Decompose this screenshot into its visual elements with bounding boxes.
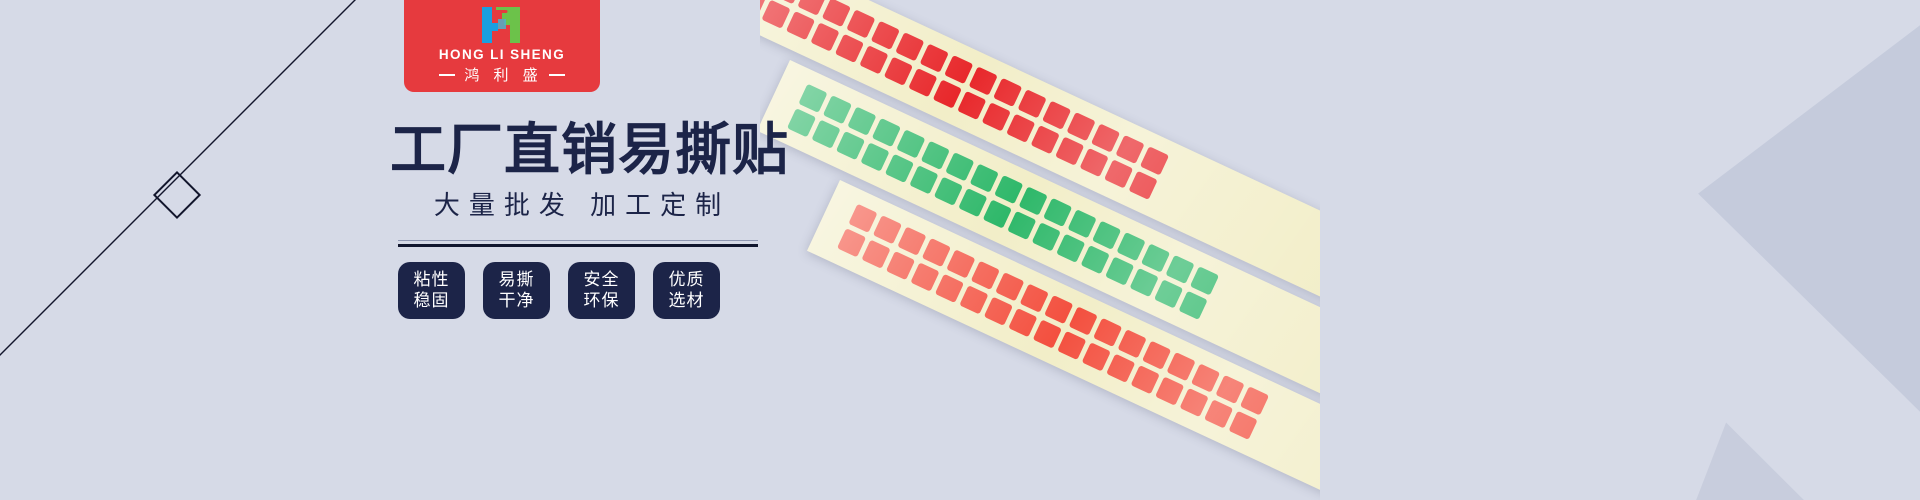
sticker-dot [761, 0, 790, 29]
logo-chinese-name: 鸿 利 盛 [461, 68, 542, 83]
sticker-dot [861, 240, 890, 269]
sticker-dot [1080, 148, 1109, 177]
sticker-dot [1128, 171, 1157, 200]
divider-line-thin [398, 240, 758, 241]
sticker-dot [1032, 222, 1061, 251]
badge-line-2: 稳固 [414, 291, 450, 312]
sticker-dot [934, 177, 963, 206]
section-divider [398, 240, 758, 247]
sticker-dot [1190, 266, 1219, 295]
sticker-dot [1106, 354, 1135, 383]
sticker-dot [860, 142, 889, 171]
sticker-dot [908, 68, 937, 97]
sticker-dot [921, 141, 950, 170]
subheadline-text: 大量批发 加工定制 [390, 192, 765, 218]
sticker-dot [822, 0, 851, 27]
sticker-dot [848, 204, 877, 233]
feature-badge[interactable]: 优质 选材 [653, 262, 720, 319]
sticker-dot [1141, 243, 1170, 272]
sticker-dot [1142, 341, 1171, 370]
sticker-dot [1178, 291, 1207, 320]
sticker-dot [798, 84, 827, 113]
sticker-dot [1204, 399, 1233, 428]
sticker-dot [885, 154, 914, 183]
badge-line-2: 环保 [584, 291, 620, 312]
sticker-dot [872, 118, 901, 147]
sticker-dot [846, 9, 875, 38]
sticker-dot [971, 261, 1000, 290]
sticker-dot [1069, 306, 1098, 335]
sticker-dot [1115, 135, 1144, 164]
logo-rule-right [549, 74, 565, 76]
badge-line-1: 易撕 [499, 270, 535, 291]
feature-badge[interactable]: 安全 环保 [568, 262, 635, 319]
sticker-dot [1057, 331, 1086, 360]
sticker-dot [1018, 89, 1047, 118]
sticker-dot [884, 57, 913, 86]
sticker-dot [787, 108, 816, 137]
sticker-dot [1020, 284, 1049, 313]
sticker-dot [1165, 255, 1194, 284]
sticker-dot [1066, 112, 1095, 141]
badge-line-2: 干净 [499, 291, 535, 312]
sticker-dot [1082, 342, 1111, 371]
sticker-dot [1155, 376, 1184, 405]
sticker-dot [1091, 123, 1120, 152]
sticker-dot [1118, 329, 1147, 358]
triangle-decoration-bottom-right [1579, 391, 1920, 500]
sticker-dot [995, 272, 1024, 301]
sticker-dot [1031, 125, 1060, 154]
feature-badge[interactable]: 易撕 干净 [483, 262, 550, 319]
sticker-dot [1130, 268, 1159, 297]
sticker-dot [1008, 308, 1037, 337]
sticker-dot [1068, 209, 1097, 238]
feature-badge[interactable]: 粘性 稳固 [398, 262, 465, 319]
sticker-dot [786, 11, 815, 40]
sticker-dot [1006, 114, 1035, 143]
sticker-dot [859, 45, 888, 74]
sticker-dot [1055, 136, 1084, 165]
product-photo [760, 0, 1320, 500]
sticker-dot [1140, 146, 1169, 175]
logo-english-name: HONG LI SHENG [439, 48, 565, 62]
sticker-dot [933, 79, 962, 108]
sticker-dot [983, 199, 1012, 228]
sticker-dot [1056, 234, 1085, 263]
sticker-dot [1228, 411, 1257, 440]
sticker-dot [1033, 319, 1062, 348]
sticker-dot [958, 188, 987, 217]
sticker-dot [1105, 256, 1134, 285]
sticker-dot [993, 78, 1022, 107]
sticker-dot [946, 249, 975, 278]
sticker-dot [1007, 211, 1036, 240]
logo-rule-left [439, 74, 455, 76]
sticker-dot [1215, 375, 1244, 404]
sticker-dot [1019, 186, 1048, 215]
sticker-dot [935, 274, 964, 303]
badge-line-2: 选材 [669, 291, 705, 312]
company-logo-card: HONG LI SHENG 鸿 利 盛 [404, 0, 600, 92]
sticker-dot [984, 297, 1013, 326]
divider-line-thick [398, 244, 758, 247]
sticker-dot [1093, 318, 1122, 347]
sticker-dot [944, 55, 973, 84]
sticker-dot [959, 285, 988, 314]
triangle-decoration-top-right [1684, 0, 1920, 415]
sticker-dot [773, 0, 802, 4]
sticker-dot [823, 95, 852, 124]
sticker-dot [994, 175, 1023, 204]
sticker-dot [896, 129, 925, 158]
sticker-dot [1043, 198, 1072, 227]
sticker-dot [837, 228, 866, 257]
badge-line-1: 粘性 [414, 270, 450, 291]
sticker-dot [1044, 295, 1073, 324]
content-column: HONG LI SHENG 鸿 利 盛 工厂直销易撕贴 大量批发 加工定制 粘性… [390, 0, 765, 500]
feature-badge-list: 粘性 稳固 易撕 干净 安全 环保 优质 选材 [398, 262, 758, 319]
badge-line-1: 安全 [584, 270, 620, 291]
sticker-dot [1042, 101, 1071, 130]
sticker-dot [835, 34, 864, 63]
sticker-dot [969, 66, 998, 95]
sticker-dot [886, 251, 915, 280]
sticker-dot [920, 44, 949, 73]
sticker-dot [897, 226, 926, 255]
sticker-dot [909, 165, 938, 194]
sticker-dot [922, 238, 951, 267]
sticker-dot [945, 152, 974, 181]
sticker-dot [873, 215, 902, 244]
headline-title: 工厂直销易撕贴 [390, 122, 765, 178]
sticker-dot [1116, 232, 1145, 261]
sticker-dot [811, 120, 840, 149]
sticker-dot [957, 91, 986, 120]
sticker-dot [847, 106, 876, 135]
sticker-dot [1154, 279, 1183, 308]
sticker-dot [1166, 352, 1195, 381]
logo-chinese-name-row: 鸿 利 盛 [439, 68, 564, 83]
sticker-dot [810, 22, 839, 51]
sticker-dot [1180, 388, 1209, 417]
hls-monogram-icon [474, 5, 530, 45]
diamond-outline-decoration [153, 171, 201, 219]
sticker-dot [982, 102, 1011, 131]
promo-banner: HONG LI SHENG 鸿 利 盛 工厂直销易撕贴 大量批发 加工定制 粘性… [0, 0, 1920, 500]
sticker-dot [895, 32, 924, 61]
sticker-dot [970, 164, 999, 193]
sticker-dot [1092, 221, 1121, 250]
sticker-dot [797, 0, 826, 16]
sticker-dot [871, 21, 900, 50]
sticker-dot [836, 131, 865, 160]
sticker-dot [1104, 159, 1133, 188]
sticker-dot [1081, 245, 1110, 274]
sticker-dot [1191, 363, 1220, 392]
sticker-dot [1131, 365, 1160, 394]
sticker-dot [1240, 386, 1269, 415]
badge-line-1: 优质 [669, 270, 705, 291]
sticker-dot [910, 262, 939, 291]
